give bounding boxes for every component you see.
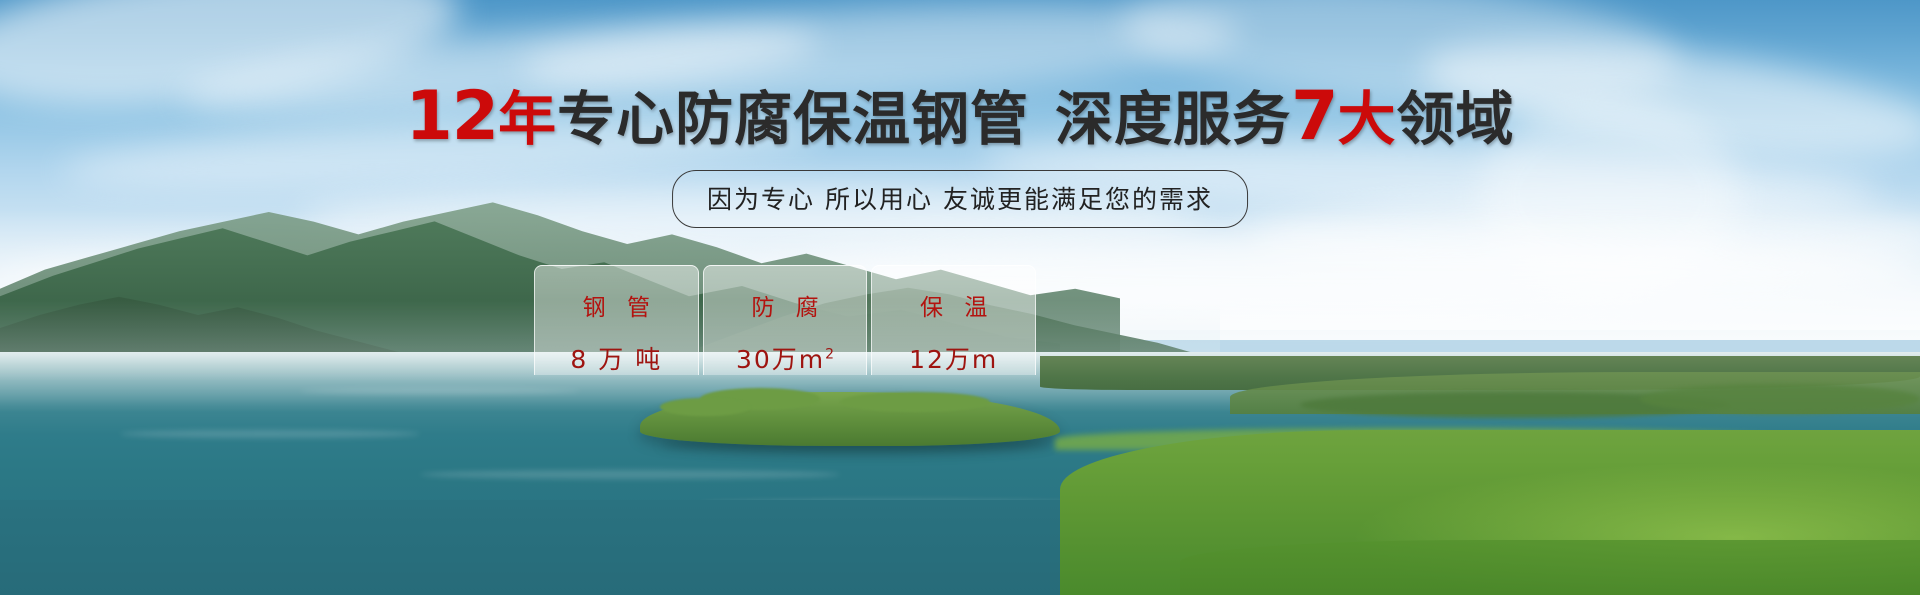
stat-card-steel-pipe[interactable]: 钢 管 8 万 吨: [534, 265, 699, 375]
grass-foreground: [1180, 540, 1920, 595]
stat-card-insulation[interactable]: 保 温 12万m: [871, 265, 1036, 375]
headline-years-number: 12: [405, 77, 498, 156]
hero-banner: 12年专心防腐保温钢管深度服务7大领域 因为专心 所以用心 友诚更能满足您的需求…: [0, 0, 1920, 595]
stat-card-label: 保 温: [913, 288, 994, 322]
stat-card-value: 12万m: [909, 340, 998, 376]
stat-card-label: 防 腐: [744, 288, 825, 322]
stat-card-anticorrosion[interactable]: 防 腐 30万m2: [703, 265, 868, 375]
stat-value-text: 30万m: [736, 345, 825, 374]
stat-value-text: 12万m: [909, 345, 998, 374]
hero-headline: 12年专心防腐保温钢管深度服务7大领域: [0, 86, 1920, 150]
headline-fields-measure: 大: [1337, 85, 1396, 153]
lake-foreground: [0, 500, 1240, 595]
stat-card-label: 钢 管: [576, 288, 657, 322]
stat-card-group: 钢 管 8 万 吨 防 腐 30万m2 保 温 12万m: [534, 265, 1036, 375]
water-ripple: [420, 470, 840, 479]
headline-fields-number: 7: [1291, 77, 1337, 156]
stat-card-value: 8 万 吨: [570, 340, 662, 376]
stat-value-text: 8 万 吨: [570, 345, 662, 374]
headline-years-unit: 年: [498, 85, 557, 153]
water-ripple: [300, 388, 580, 394]
hero-subtitle-pill: 因为专心 所以用心 友诚更能满足您的需求: [672, 170, 1248, 228]
headline-main-phrase: 专心防腐保温钢管: [557, 85, 1029, 153]
headline-service-phrase: 深度服务: [1055, 85, 1291, 153]
island-tuft: [840, 392, 990, 412]
stat-value-superscript: 2: [825, 347, 834, 363]
water-ripple: [120, 430, 420, 438]
stat-card-value: 30万m2: [736, 340, 834, 376]
island-tuft: [660, 398, 750, 416]
marsh-patch: [1640, 384, 1920, 414]
headline-fields-noun: 领域: [1397, 85, 1515, 153]
